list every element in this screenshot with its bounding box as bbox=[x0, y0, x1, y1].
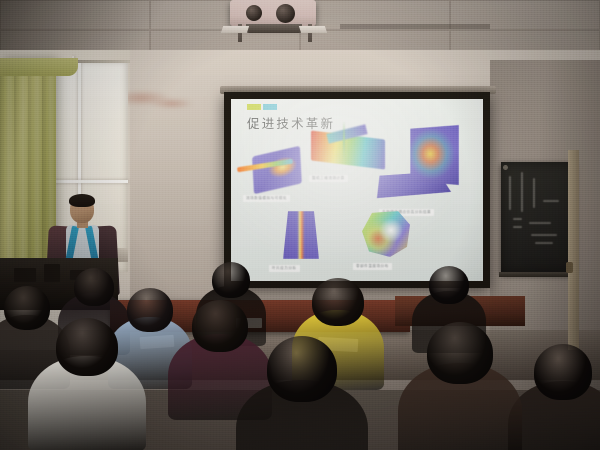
figure-d-caption: 叶片应力分析 bbox=[269, 265, 300, 272]
cyan-accent-block bbox=[263, 104, 277, 110]
curtain-header bbox=[0, 58, 78, 76]
figure-e-caption: 零部件温度场分布 bbox=[353, 263, 392, 270]
ceiling-vent bbox=[340, 24, 490, 29]
audience-orange-trim-jacket bbox=[398, 322, 522, 450]
audience-head bbox=[427, 322, 493, 384]
figure-c-vertical-plane bbox=[410, 125, 458, 185]
figure-e-temperature-field bbox=[361, 211, 411, 257]
audience-head bbox=[56, 318, 118, 376]
audience-dark-center bbox=[236, 336, 368, 450]
ceiling-projector bbox=[230, 0, 316, 26]
figure-a-caption: 流场数值模拟与可视化 bbox=[243, 195, 290, 202]
audience-head bbox=[267, 336, 337, 402]
projector-wing bbox=[221, 26, 249, 33]
figure-b-spike bbox=[343, 121, 345, 161]
door-handle[interactable] bbox=[566, 262, 573, 273]
projector-base bbox=[246, 24, 302, 33]
figure-b-caption: 整机三维流场计算 bbox=[309, 175, 348, 182]
projector-lens-icon bbox=[246, 5, 262, 21]
projection-screen[interactable]: 促进技术革新 流场数值模拟与可视化 整机三维流场计算 多物理场耦合仿真分析结果 … bbox=[231, 99, 483, 281]
yellow-accent-block bbox=[247, 104, 261, 110]
door-frame bbox=[568, 150, 579, 350]
audience-head bbox=[429, 266, 469, 304]
slide-title: 促进技术革新 bbox=[247, 113, 335, 132]
presenter-hair bbox=[69, 194, 95, 207]
figure-a-flowfield bbox=[252, 146, 302, 195]
chalkboard bbox=[501, 162, 575, 274]
chalkboard-knob bbox=[503, 165, 508, 170]
audience-head bbox=[212, 262, 250, 298]
classroom-scene: 促进技术革新 流场数值模拟与可视化 整机三维流场计算 多物理场耦合仿真分析结果 … bbox=[0, 0, 600, 450]
wall-stain bbox=[150, 98, 194, 109]
projector-lens-icon bbox=[276, 4, 295, 23]
figure-d-blade-stress bbox=[283, 211, 319, 259]
audience-white-shirt bbox=[28, 318, 146, 450]
audience-head bbox=[534, 344, 592, 400]
chalk-tray bbox=[499, 272, 577, 277]
projector-wing bbox=[299, 26, 327, 33]
audience-head bbox=[312, 278, 364, 326]
